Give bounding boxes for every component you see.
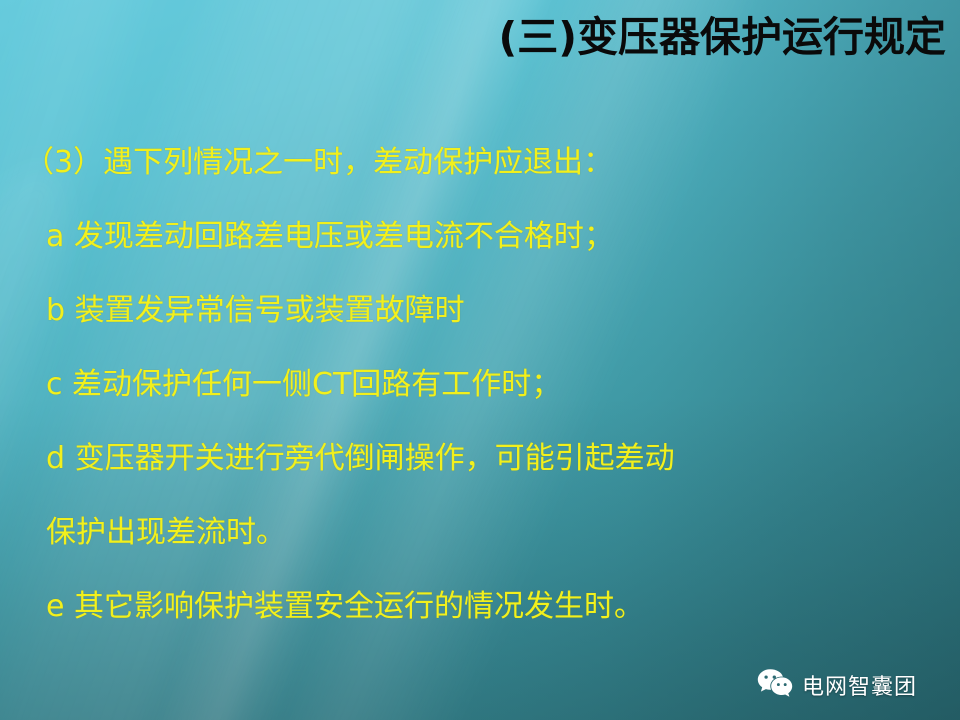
body-item-e: e 其它影响保护装置安全运行的情况发生时。 — [46, 592, 960, 622]
body-item-a: a 发现差动回路差电压或差电流不合格时； — [46, 222, 960, 252]
watermark-label: 电网智囊团 — [802, 669, 917, 701]
slide-body: （3）遇下列情况之一时，差动保护应退出： a 发现差动回路差电压或差电流不合格时… — [0, 148, 960, 622]
watermark: 电网智囊团 — [757, 668, 917, 702]
body-item-d-line1: d 变压器开关进行旁代倒闸操作，可能引起差动 — [46, 444, 960, 474]
wechat-icon — [757, 668, 793, 702]
body-item-c: c 差动保护任何一侧CT回路有工作时； — [46, 370, 960, 400]
body-heading: （3）遇下列情况之一时，差动保护应退出： — [24, 148, 960, 178]
body-item-b: b 装置发异常信号或装置故障时 — [46, 296, 960, 326]
body-item-d-line2: 保护出现差流时。 — [46, 518, 960, 548]
slide-title: (三)变压器保护运行规定 — [499, 12, 946, 63]
slide-canvas: (三)变压器保护运行规定 （3）遇下列情况之一时，差动保护应退出： a 发现差动… — [0, 0, 960, 720]
